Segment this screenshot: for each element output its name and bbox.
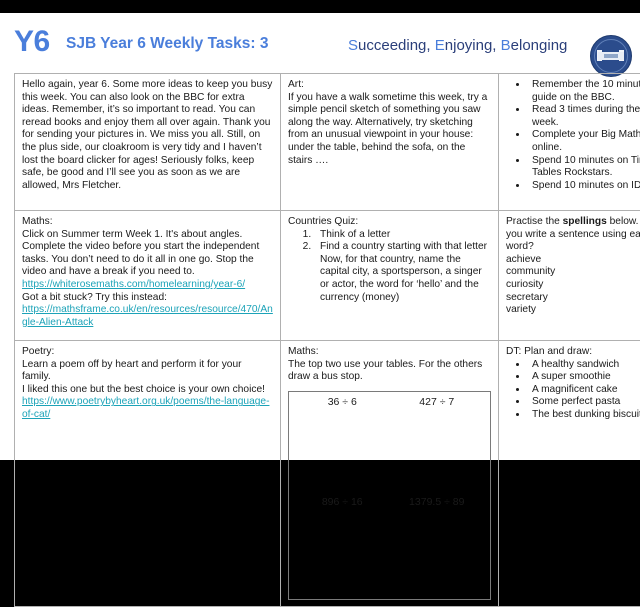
cell-reminders: Remember the 10 minute guide on the BBC.… (499, 74, 640, 211)
list-item: Spend 10 minutes on Times Tables Rocksta… (528, 155, 640, 180)
countries-heading: Countries Quiz: (288, 216, 491, 229)
cell-spellings: Practise the spellings below. Can you wr… (499, 211, 640, 341)
maths-link-2-wrapper: https://mathsframe.co.uk/en/resources/re… (22, 304, 273, 329)
intro-text: Hello again, year 6. Some more ideas to … (22, 79, 273, 192)
sum-cell: 896 ÷ 16 (295, 495, 390, 595)
art-heading: Art: (288, 79, 491, 92)
list-item: Some perfect pasta (528, 396, 640, 409)
whiterosemaths-link[interactable]: https://whiterosemaths.com/homelearning/… (22, 279, 245, 290)
reminders-list: Remember the 10 minute guide on the BBC.… (506, 79, 640, 192)
list-item: A healthy sandwich (528, 359, 640, 372)
crest-building-banner (604, 54, 618, 58)
countries-quiz-list: Think of a letter Find a country startin… (288, 229, 491, 305)
maths-body: Click on Summer term Week 1. It's about … (22, 229, 273, 279)
list-item: Find a country starting with that letter… (314, 241, 491, 304)
list-item: Spend 10 minutes on IDL. (528, 180, 640, 193)
cell-dt: DT: Plan and draw: A healthy sandwich A … (499, 341, 640, 607)
maths-sums-heading: Maths: (288, 346, 491, 359)
spelling-word: achieve (506, 254, 640, 267)
tagline-b: B (501, 37, 511, 54)
cell-poetry: Poetry: Learn a poem off by heart and pe… (15, 341, 281, 607)
slide-header: Y6 SJB Year 6 Weekly Tasks: 3 Succeeding… (0, 13, 640, 71)
dt-heading: DT: Plan and draw: (506, 346, 640, 359)
table-row: Maths: Click on Summer term Week 1. It's… (15, 211, 640, 341)
cell-countries-quiz: Countries Quiz: Think of a letter Find a… (281, 211, 499, 341)
school-crest-logo-icon (590, 35, 632, 77)
maths-heading: Maths: (22, 216, 273, 229)
division-sums-box: 36 ÷ 6 427 ÷ 7 896 ÷ 16 1379.5 ÷ 89 (288, 391, 491, 600)
table-row: Hello again, year 6. Some more ideas to … (15, 74, 640, 211)
list-item: Think of a letter (314, 229, 491, 242)
art-body: If you have a walk sometime this week, t… (288, 92, 491, 168)
tagline-ucceeding: ucceeding, (358, 37, 435, 54)
list-item: Complete your Big Maths online. (528, 129, 640, 154)
sum-cell: 1379.5 ÷ 89 (390, 495, 485, 595)
maths-sums-body: The top two use your tables. For the oth… (288, 359, 491, 384)
spelling-word: secretary (506, 292, 640, 305)
spellings-lead-bold: spellings (563, 216, 607, 227)
poetry-heading: Poetry: (22, 346, 273, 359)
list-item: A super smoothie (528, 371, 640, 384)
maths-stuck-text: Got a bit stuck? Try this instead: (22, 292, 273, 305)
tagline-e: E (435, 37, 445, 54)
spelling-word: curiosity (506, 279, 640, 292)
maths-link-1-wrapper: https://whiterosemaths.com/homelearning/… (22, 279, 273, 292)
weekly-tasks-table: Hello again, year 6. Some more ideas to … (14, 73, 640, 607)
poetry-link-wrapper: https://www.poetrybyheart.org.uk/poems/t… (22, 396, 273, 421)
page-title: SJB Year 6 Weekly Tasks: 3 (66, 35, 269, 53)
mathsframe-link[interactable]: https://mathsframe.co.uk/en/resources/re… (22, 304, 273, 328)
dt-list: A healthy sandwich A super smoothie A ma… (506, 359, 640, 422)
table-row: Poetry: Learn a poem off by heart and pe… (15, 341, 640, 607)
year-group-label: Y6 (14, 27, 50, 57)
cell-maths-angles: Maths: Click on Summer term Week 1. It's… (15, 211, 281, 341)
spellings-lead: Practise the spellings below. Can you wr… (506, 216, 640, 254)
school-tagline: Succeeding, Enjoying, Belonging (348, 37, 567, 55)
letterbox-top-bar (0, 0, 640, 13)
tagline-njoying: njoying, (445, 37, 501, 54)
cell-art: Art: If you have a walk sometime this we… (281, 74, 499, 211)
poetrybyheart-link[interactable]: https://www.poetrybyheart.org.uk/poems/t… (22, 396, 269, 420)
tagline-elonging: elonging (511, 37, 568, 54)
poetry-body-2: I liked this one but the best choice is … (22, 384, 273, 397)
spelling-word: variety (506, 304, 640, 317)
list-item: Read 3 times during the week. (528, 104, 640, 129)
spelling-word: community (506, 266, 640, 279)
slide-canvas: Y6 SJB Year 6 Weekly Tasks: 3 Succeeding… (0, 13, 640, 460)
spellings-lead-before: Practise the (506, 216, 563, 227)
list-item: The best dunking biscuit ever (528, 409, 640, 422)
cell-maths-division: Maths: The top two use your tables. For … (281, 341, 499, 607)
cell-intro-message: Hello again, year 6. Some more ideas to … (15, 74, 281, 211)
poetry-body: Learn a poem off by heart and perform it… (22, 359, 273, 384)
division-sums-table: 36 ÷ 6 427 ÷ 7 896 ÷ 16 1379.5 ÷ 89 (295, 395, 484, 595)
list-item: Remember the 10 minute guide on the BBC. (528, 79, 640, 104)
tagline-s: S (348, 37, 358, 54)
table-row: 896 ÷ 16 1379.5 ÷ 89 (295, 495, 484, 595)
list-item: A magnificent cake (528, 384, 640, 397)
